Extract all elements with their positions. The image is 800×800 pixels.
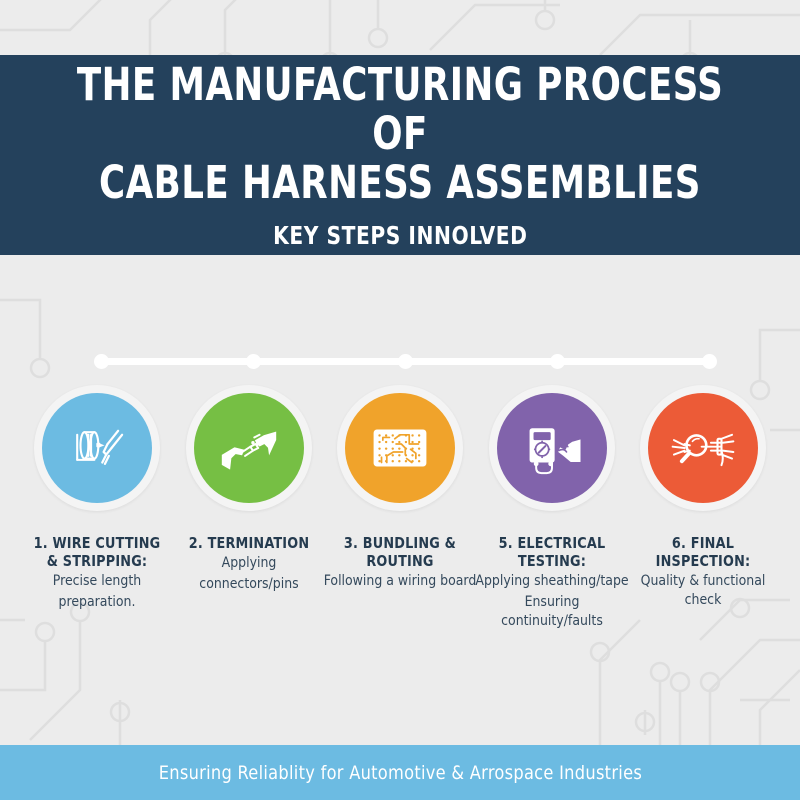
step-2-circle-ring — [186, 385, 312, 511]
page-subtitle: KEY STEPS INNOLVED — [273, 221, 527, 250]
step-3-text: 3. BUNDLING & ROUTING Following a wiring… — [319, 534, 481, 591]
step-1-desc-line-2: preparation. — [19, 593, 175, 612]
header-banner: THE MANUFACTURING PROCESS OF CABLE HARNE… — [0, 55, 800, 255]
wiring-board-icon — [367, 415, 433, 481]
step-6-title-line-1: 6. FINAL — [626, 534, 780, 552]
step-3-title-line-1: 3. BUNDLING & — [323, 534, 477, 552]
process-step-3[interactable]: 3. BUNDLING & ROUTING Following a wiring… — [325, 385, 475, 631]
step-6-circle-ring — [640, 385, 766, 511]
timeline-node-5 — [702, 354, 717, 369]
hands-connecting-connector-icon — [216, 415, 282, 481]
step-3-circle — [345, 393, 455, 503]
magnifier-over-wire-bundle-icon — [670, 415, 736, 481]
step-2-desc-line-2: connectors/pins — [171, 575, 327, 594]
process-step-1[interactable]: 1. WIRE CUTTING & STRIPPING: Precise len… — [22, 385, 172, 631]
step-2-title-line-1: 2. TERMINATION — [172, 534, 326, 552]
step-1-circle — [42, 393, 152, 503]
multimeter-with-hand-icon — [519, 415, 585, 481]
page-title-line-2: CABLE HARNESS ASSEMBLIES — [99, 158, 701, 207]
step-1-circle-ring — [34, 385, 160, 511]
process-steps-row: 1. WIRE CUTTING & STRIPPING: Precise len… — [0, 385, 800, 631]
step-1-text: 1. WIRE CUTTING & STRIPPING: Precise len… — [16, 534, 178, 612]
timeline-node-4 — [550, 354, 565, 369]
step-5-circle — [497, 393, 607, 503]
step-6-title-line-2: INSPECTION: — [626, 552, 780, 570]
step-6-text: 6. FINAL INSPECTION: Quality & functiona… — [622, 534, 784, 610]
infographic-root: THE MANUFACTURING PROCESS OF CABLE HARNE… — [0, 0, 800, 800]
step-1-desc-line-1: Precise length — [19, 572, 175, 591]
step-2-desc-line-1: Applying — [171, 554, 327, 573]
step-1-title-line-2: & STRIPPING: — [20, 552, 174, 570]
process-step-2[interactable]: 2. TERMINATION Applying connectors/pins — [174, 385, 324, 631]
step-5-title-line-1: 5. ELECTRICAL — [475, 534, 629, 552]
wire-spool-and-pliers-icon — [64, 415, 130, 481]
step-5-desc-line-1: Applying sheathing/tape — [474, 572, 630, 591]
step-3-circle-ring — [337, 385, 463, 511]
step-5-desc-line-2: Ensuring continuity/faults — [474, 593, 630, 631]
page-title-line-1: THE MANUFACTURING PROCESS OF — [48, 60, 752, 158]
step-6-desc-line-1: Quality & functional check — [625, 572, 781, 610]
process-timeline — [0, 352, 800, 372]
footer-tagline: Ensuring Reliablity for Automotive & Arr… — [158, 762, 641, 784]
step-5-circle-ring — [489, 385, 615, 511]
timeline-node-1 — [94, 354, 109, 369]
timeline-node-2 — [246, 354, 261, 369]
step-5-title-line-2: TESTING: — [475, 552, 629, 570]
step-2-circle — [194, 393, 304, 503]
process-step-6[interactable]: 6. FINAL INSPECTION: Quality & functiona… — [628, 385, 778, 631]
step-6-circle — [648, 393, 758, 503]
process-step-5[interactable]: 5. ELECTRICAL TESTING: Applying sheathin… — [477, 385, 627, 631]
step-2-text: 2. TERMINATION Applying connectors/pins — [168, 534, 330, 594]
footer-banner: Ensuring Reliablity for Automotive & Arr… — [0, 745, 800, 800]
step-5-text: 5. ELECTRICAL TESTING: Applying sheathin… — [471, 534, 633, 631]
step-3-desc-line-1: Following a wiring board — [322, 572, 478, 591]
step-1-title-line-1: 1. WIRE CUTTING — [20, 534, 174, 552]
timeline-node-3 — [398, 354, 413, 369]
step-3-title-line-2: ROUTING — [323, 552, 477, 570]
